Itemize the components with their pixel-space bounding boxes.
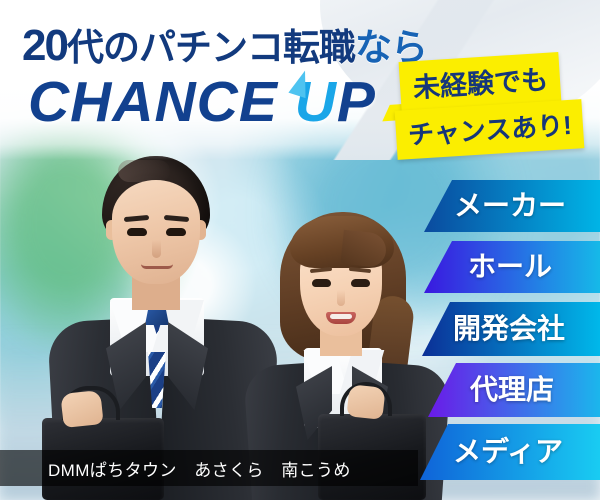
logo-letter-p: P xyxy=(337,70,376,134)
woman-nose xyxy=(337,290,345,306)
woman-hand xyxy=(346,384,385,420)
pachinko-recruitment-banner[interactable]: 20代のパチンコ転職なら CHANCE UP 未経験でも チャンスあり! メーカ… xyxy=(0,0,600,500)
category-button-1[interactable]: メーカー xyxy=(424,180,600,232)
category-button-5[interactable]: メディア xyxy=(420,424,600,480)
headline-number: 20 xyxy=(22,21,67,70)
category-button-label: 開発会社 xyxy=(453,315,569,343)
category-button-label: ホール xyxy=(468,253,556,281)
category-button-label: メーカー xyxy=(454,192,570,220)
man-mouth xyxy=(141,264,173,269)
man-tie-knot xyxy=(145,308,169,325)
woman-bangs xyxy=(290,216,394,268)
page-title: 20代のパチンコ転職なら xyxy=(22,17,427,71)
category-button-4[interactable]: 代理店 xyxy=(428,363,600,417)
woman-eye-right xyxy=(351,279,370,287)
man-eye-left xyxy=(127,228,147,236)
credits-bar: DMMぱちタウン あさくら 南こうめ xyxy=(0,450,418,486)
logo-word-chance: CHANCE xyxy=(28,70,278,134)
category-button-3[interactable]: 開発会社 xyxy=(422,302,600,356)
category-button-label: メディア xyxy=(453,438,567,466)
credits-text: DMMぱちタウン あさくら 南こうめ xyxy=(0,456,351,481)
woman-mouth xyxy=(326,312,356,324)
man-hand xyxy=(60,390,103,428)
man-nose xyxy=(152,240,161,258)
woman-eye-left xyxy=(312,279,331,287)
category-button-2[interactable]: ホール xyxy=(424,241,600,293)
man-eye-right xyxy=(166,228,186,236)
headline-main: 代のパチンコ転職 xyxy=(67,27,355,68)
brand-logo: CHANCE UP xyxy=(28,74,376,131)
category-button-label: 代理店 xyxy=(470,376,558,404)
